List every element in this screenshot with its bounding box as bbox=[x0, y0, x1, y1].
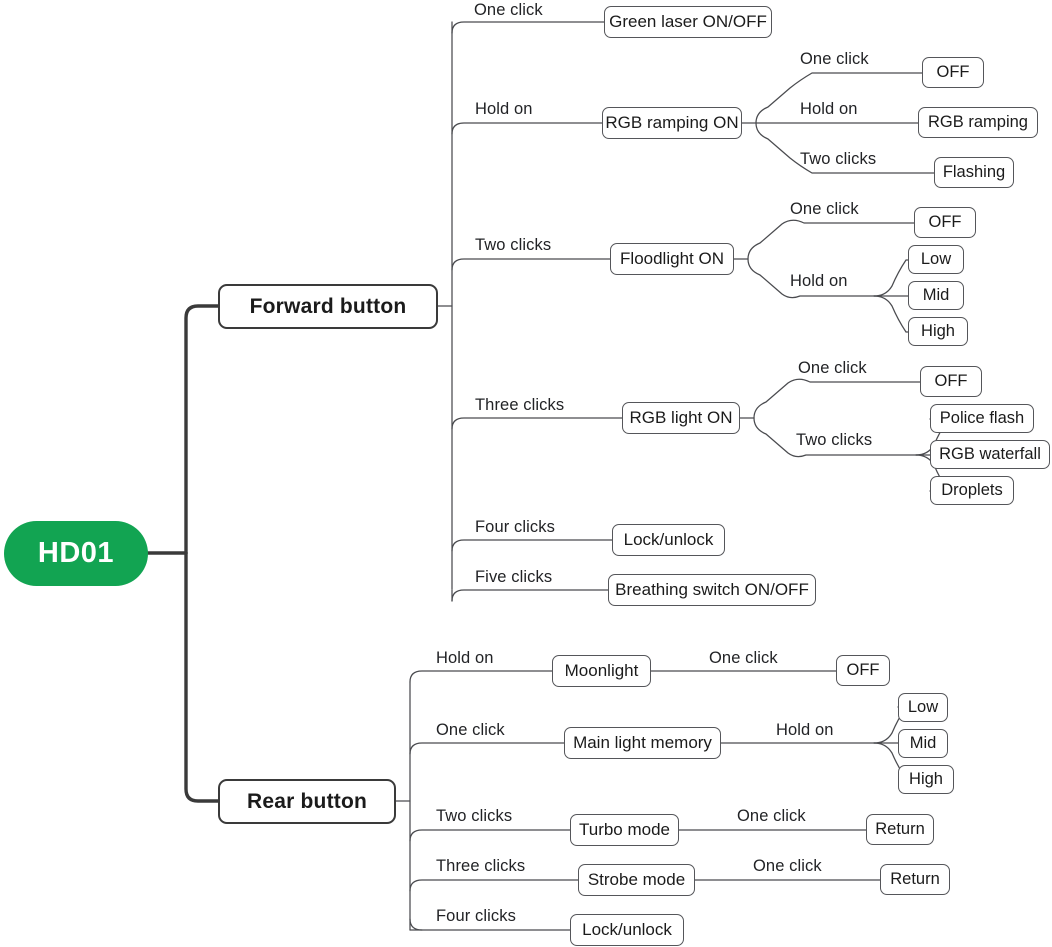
node-floodlight-on[interactable]: Floodlight ON bbox=[610, 243, 734, 275]
node-droplets[interactable]: Droplets bbox=[930, 476, 1014, 505]
node-main-low[interactable]: Low bbox=[898, 693, 948, 722]
node-rgb-waterfall[interactable]: RGB waterfall bbox=[930, 440, 1050, 469]
connector-lines bbox=[0, 0, 1052, 947]
node-rgb-ramping-off[interactable]: OFF bbox=[922, 57, 984, 88]
node-forward-lock-unlock[interactable]: Lock/unlock bbox=[612, 524, 725, 556]
node-moonlight-off[interactable]: OFF bbox=[836, 655, 890, 686]
node-turbo-return[interactable]: Return bbox=[866, 814, 934, 845]
node-floodlight-mid[interactable]: Mid bbox=[908, 281, 964, 310]
node-turbo-mode[interactable]: Turbo mode bbox=[570, 814, 679, 846]
node-rgb-ramping-flashing[interactable]: Flashing bbox=[934, 157, 1014, 188]
edge-label-forward-three-clicks: Three clicks bbox=[475, 397, 564, 414]
edge-label-rgblight-two-clicks: Two clicks bbox=[796, 432, 872, 449]
node-strobe-return[interactable]: Return bbox=[880, 864, 950, 895]
edge-label-moonlight-one-click: One click bbox=[709, 650, 778, 667]
node-floodlight-low[interactable]: Low bbox=[908, 245, 964, 274]
node-moonlight[interactable]: Moonlight bbox=[552, 655, 651, 687]
node-rgb-ramping-on[interactable]: RGB ramping ON bbox=[602, 107, 742, 139]
edge-label-forward-hold-on: Hold on bbox=[475, 101, 533, 118]
edge-label-rgblight-one-click: One click bbox=[798, 360, 867, 377]
edge-label-strobe-one-click: One click bbox=[753, 858, 822, 875]
edge-label-memory-hold-on: Hold on bbox=[776, 722, 834, 739]
node-main-light-memory[interactable]: Main light memory bbox=[564, 727, 721, 759]
node-green-laser[interactable]: Green laser ON/OFF bbox=[604, 6, 772, 38]
edge-label-rear-one-click: One click bbox=[436, 722, 505, 739]
edge-label-rear-hold-on: Hold on bbox=[436, 650, 494, 667]
node-rear-button[interactable]: Rear button bbox=[218, 779, 396, 824]
node-rgb-light-off[interactable]: OFF bbox=[920, 366, 982, 397]
edge-label-floodlight-one-click: One click bbox=[790, 201, 859, 218]
node-floodlight-off[interactable]: OFF bbox=[914, 207, 976, 238]
edge-label-rear-four-clicks: Four clicks bbox=[436, 908, 516, 925]
node-strobe-mode[interactable]: Strobe mode bbox=[578, 864, 695, 896]
node-rear-lock-unlock[interactable]: Lock/unlock bbox=[570, 914, 684, 946]
edge-label-forward-two-clicks: Two clicks bbox=[475, 237, 551, 254]
edge-label-forward-five-clicks: Five clicks bbox=[475, 569, 552, 586]
root-node-hd01[interactable]: HD01 bbox=[4, 521, 148, 586]
node-rgb-light-on[interactable]: RGB light ON bbox=[622, 402, 740, 434]
node-breathing-switch[interactable]: Breathing switch ON/OFF bbox=[608, 574, 816, 606]
edge-label-rear-two-clicks: Two clicks bbox=[436, 808, 512, 825]
edge-label-ramping-hold-on: Hold on bbox=[800, 101, 858, 118]
node-floodlight-high[interactable]: High bbox=[908, 317, 968, 346]
node-rgb-ramping-mode[interactable]: RGB ramping bbox=[918, 107, 1038, 138]
edge-label-ramping-two-clicks: Two clicks bbox=[800, 151, 876, 168]
mindmap-canvas: HD01 Forward button Rear button Green la… bbox=[0, 0, 1052, 947]
node-main-high[interactable]: High bbox=[898, 765, 954, 794]
edge-label-floodlight-hold-on: Hold on bbox=[790, 273, 848, 290]
edge-label-forward-one-click: One click bbox=[474, 2, 543, 19]
node-police-flash[interactable]: Police flash bbox=[930, 404, 1034, 433]
edge-label-rear-three-clicks: Three clicks bbox=[436, 858, 525, 875]
node-main-mid[interactable]: Mid bbox=[898, 729, 948, 758]
edge-label-turbo-one-click: One click bbox=[737, 808, 806, 825]
edge-label-forward-four-clicks: Four clicks bbox=[475, 519, 555, 536]
edge-label-ramping-one-click: One click bbox=[800, 51, 869, 68]
node-forward-button[interactable]: Forward button bbox=[218, 284, 438, 329]
